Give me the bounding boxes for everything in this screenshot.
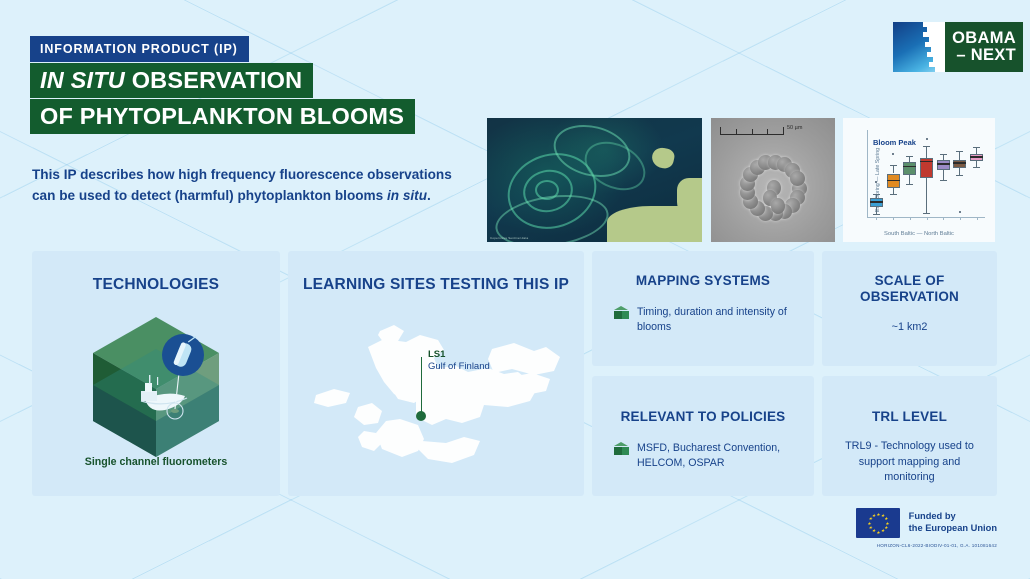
mapping-systems-bullet: Timing, duration and intensity of blooms [614, 305, 794, 334]
card-mapping-systems: MAPPING SYSTEMS Timing, duration and int… [592, 251, 814, 366]
x-axis-tick [910, 217, 911, 220]
eu-star: ★ [868, 517, 871, 520]
grant-number: HORIZON-CL6-2022-BIODIV-01-01, G.A. 1010… [877, 543, 997, 548]
x-axis-tick [960, 217, 961, 220]
x-axis-tick [927, 217, 928, 220]
card-trl-level: TRL LEVEL TRL9 - Technology used to supp… [822, 376, 997, 496]
infographic-page: INFORMATION PRODUCT (IP) IN SITU OBSERVA… [0, 0, 1030, 579]
bloom-peak-boxplot: Early Spring — Late Spring Bloom Peak So… [843, 118, 995, 242]
intro-text-2: . [427, 188, 431, 203]
site-name: Gulf of Finland [428, 361, 490, 373]
chart-x-axis-label: South Baltic — North Baltic [843, 231, 995, 237]
card-learning-sites: LEARNING SITES TESTING THIS IP [288, 251, 584, 496]
europe-map: LS1 Gulf of Finland [288, 295, 584, 496]
scale-value: ~1 km2 [822, 320, 997, 335]
logo-step-edge [893, 22, 945, 72]
eu-star: ★ [867, 522, 870, 525]
satellite-attribution: Copernicus Sentinel data [490, 236, 528, 240]
technologies-caption: Single channel fluorometers [32, 456, 280, 468]
scale-title-line2: OBSERVATION [822, 289, 997, 305]
eu-line2: the European Union [909, 523, 997, 535]
site-pin-line [421, 357, 422, 415]
scale-title-line1: SCALE OF [822, 273, 997, 289]
mapping-systems-text: Timing, duration and intensity of blooms [637, 305, 794, 334]
trl-value: TRL9 - Technology used to support mappin… [838, 439, 981, 484]
cell [790, 171, 805, 186]
policies-bullet: MSFD, Bucharest Convention, HELCOM, OSPA… [614, 441, 794, 470]
site-pin-marker[interactable] [416, 411, 426, 421]
cube-bullet-icon [614, 442, 629, 457]
x-axis-tick [893, 217, 894, 220]
logo-line1: OBAMA [952, 30, 1016, 47]
card-title-relevant-to-policies: RELEVANT TO POLICIES [592, 376, 814, 425]
intro-text-italic: in situ [387, 188, 427, 203]
x-axis-tick [943, 217, 944, 220]
eu-star: ★ [876, 513, 879, 516]
eu-star: ★ [881, 529, 884, 532]
microscope-cell-image: 50 µm [711, 118, 835, 242]
logo-line2: – NEXT [956, 47, 1016, 64]
obama-next-logo: OBAMA – NEXT [893, 22, 1023, 72]
eu-star: ★ [868, 526, 871, 529]
eu-star: ★ [884, 517, 887, 520]
scale-bar [720, 127, 784, 135]
page-title-line2: OF PHYTOPLANKTON BLOOMS [30, 99, 415, 134]
intro-paragraph: This IP describes how high frequency flu… [32, 165, 472, 206]
card-relevant-to-policies: RELEVANT TO POLICIES MSFD, Bucharest Con… [592, 376, 814, 496]
eu-star: ★ [872, 529, 875, 532]
title-rest: OBSERVATION [125, 67, 302, 93]
scale-bar-label: 50 µm [787, 125, 802, 131]
cube-bullet-icon [614, 306, 629, 321]
cell [771, 198, 785, 214]
card-scale-of-observation: SCALE OF OBSERVATION ~1 km2 [822, 251, 997, 366]
card-title-technologies: TECHNOLOGIES [32, 251, 280, 294]
header-block: INFORMATION PRODUCT (IP) IN SITU OBSERVA… [30, 36, 415, 134]
card-title-mapping-systems: MAPPING SYSTEMS [592, 251, 814, 289]
card-title-trl-level: TRL LEVEL [822, 376, 997, 425]
eu-funding-logo: ★★★★★★★★★★★★ Funded by the European Unio… [856, 508, 997, 538]
eu-star: ★ [872, 514, 875, 517]
eu-line1: Funded by [909, 511, 997, 523]
chart-plot-area [867, 130, 985, 218]
kicker-badge: INFORMATION PRODUCT (IP) [30, 36, 249, 62]
policies-text: MSFD, Bucharest Convention, HELCOM, OSPA… [637, 441, 794, 470]
logo-gradient-block [893, 22, 945, 72]
coast-landmass [677, 178, 702, 218]
eu-star: ★ [876, 531, 879, 534]
logo-wordmark: OBAMA – NEXT [945, 22, 1023, 72]
card-title-learning-sites: LEARNING SITES TESTING THIS IP [288, 251, 584, 294]
fluorometer-illustration [87, 311, 225, 461]
title-italic: IN SITU [40, 67, 125, 93]
site-code: LS1 [428, 349, 490, 361]
eu-flag-icon: ★★★★★★★★★★★★ [856, 508, 900, 538]
x-axis-tick [977, 217, 978, 220]
card-technologies: TECHNOLOGIES [32, 251, 280, 496]
eu-funding-text: Funded by the European Union [909, 511, 997, 535]
site-pin-label: LS1 Gulf of Finland [428, 349, 490, 374]
x-axis-tick [876, 217, 877, 220]
card-title-scale-of-observation: SCALE OF OBSERVATION [822, 251, 997, 306]
page-title-line1: IN SITU OBSERVATION [30, 63, 313, 98]
satellite-bloom-image: Copernicus Sentinel data [487, 118, 702, 242]
